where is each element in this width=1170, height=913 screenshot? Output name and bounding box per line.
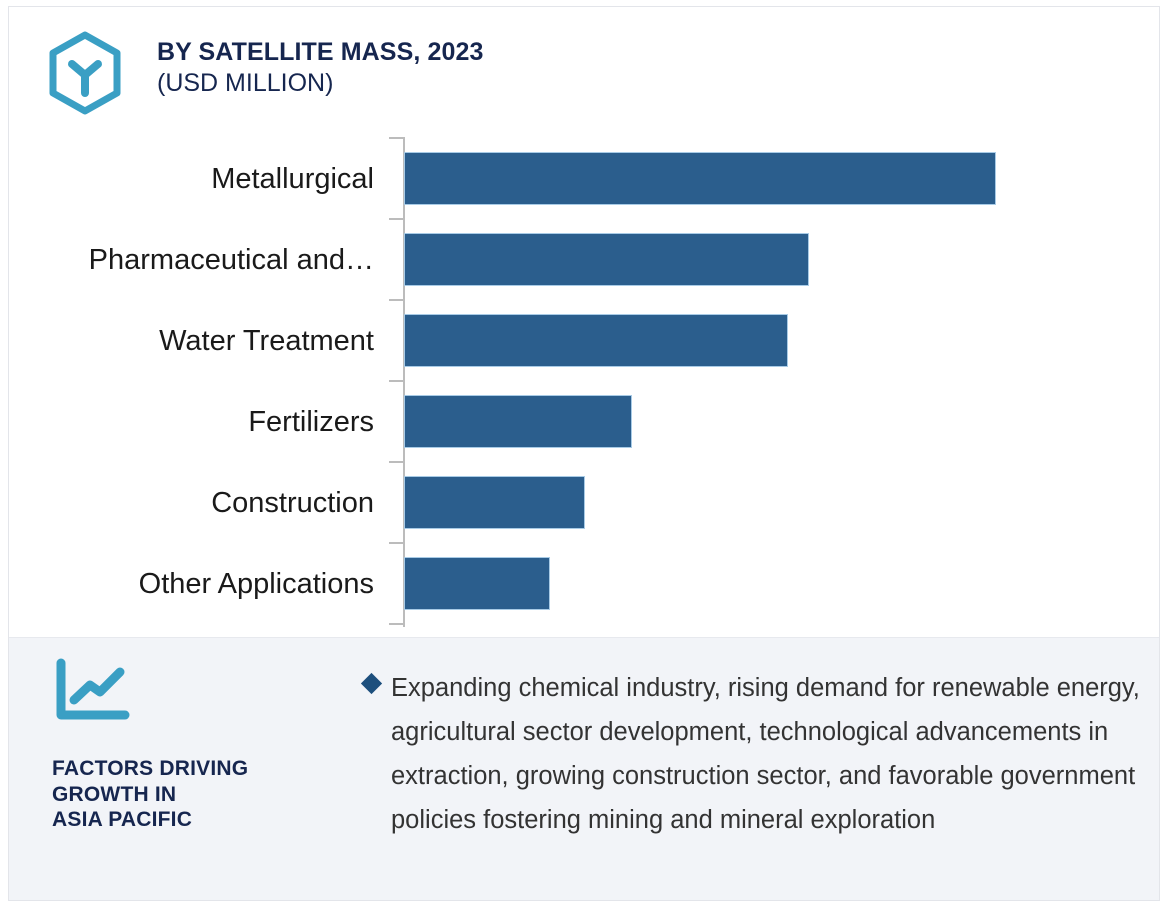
bar-track: [404, 382, 1144, 461]
chart-header: BY SATELLITE MASS, 2023 (USD MILLION): [9, 7, 1159, 127]
axis-tick: [389, 623, 404, 625]
bar[interactable]: [404, 152, 996, 205]
bar-track: [404, 544, 1144, 623]
insight-text: Expanding chemical industry, rising dema…: [391, 666, 1144, 842]
bar[interactable]: [404, 395, 632, 448]
factors-title: FACTORS DRIVING GROWTH IN ASIA PACIFIC: [52, 756, 362, 833]
line-chart-icon: [52, 658, 134, 724]
chart-title: BY SATELLITE MASS, 2023: [157, 37, 483, 67]
diamond-bullet-icon: [361, 673, 382, 694]
bar-row: Pharmaceutical and…: [9, 220, 1160, 299]
bar-track: [404, 220, 1144, 299]
category-label: Water Treatment: [9, 324, 374, 358]
category-label: Fertilizers: [9, 405, 374, 439]
category-label: Other Applications: [9, 567, 374, 601]
bar-row: Construction: [9, 463, 1160, 542]
bar-row: Fertilizers: [9, 382, 1160, 461]
infographic-card: BY SATELLITE MASS, 2023 (USD MILLION) Me…: [8, 6, 1160, 901]
hexagon-y-icon: [47, 31, 123, 115]
title-block: BY SATELLITE MASS, 2023 (USD MILLION): [157, 37, 483, 99]
bar-row: Metallurgical: [9, 139, 1160, 218]
bar-row: Water Treatment: [9, 301, 1160, 380]
bar-row: Other Applications: [9, 544, 1160, 623]
factors-title-line: FACTORS DRIVING: [52, 756, 362, 782]
bar-track: [404, 301, 1144, 380]
factors-title-line: ASIA PACIFIC: [52, 807, 362, 833]
plot-area: Metallurgical Pharmaceutical and… Water …: [9, 133, 1160, 631]
factors-title-line: GROWTH IN: [52, 782, 362, 808]
bar[interactable]: [404, 476, 585, 529]
bar[interactable]: [404, 233, 809, 286]
bar[interactable]: [404, 557, 550, 610]
bar-chart: Metallurgical Pharmaceutical and… Water …: [9, 133, 1160, 631]
chart-subtitle: (USD MILLION): [157, 67, 483, 99]
category-label: Construction: [9, 486, 374, 520]
bar[interactable]: [404, 314, 788, 367]
insight-item: Expanding chemical industry, rising dema…: [364, 666, 1144, 842]
factors-panel: FACTORS DRIVING GROWTH IN ASIA PACIFIC E…: [9, 637, 1159, 900]
category-label: Pharmaceutical and…: [9, 243, 374, 277]
category-label: Metallurgical: [9, 162, 374, 196]
bar-track: [404, 139, 1144, 218]
bar-track: [404, 463, 1144, 542]
